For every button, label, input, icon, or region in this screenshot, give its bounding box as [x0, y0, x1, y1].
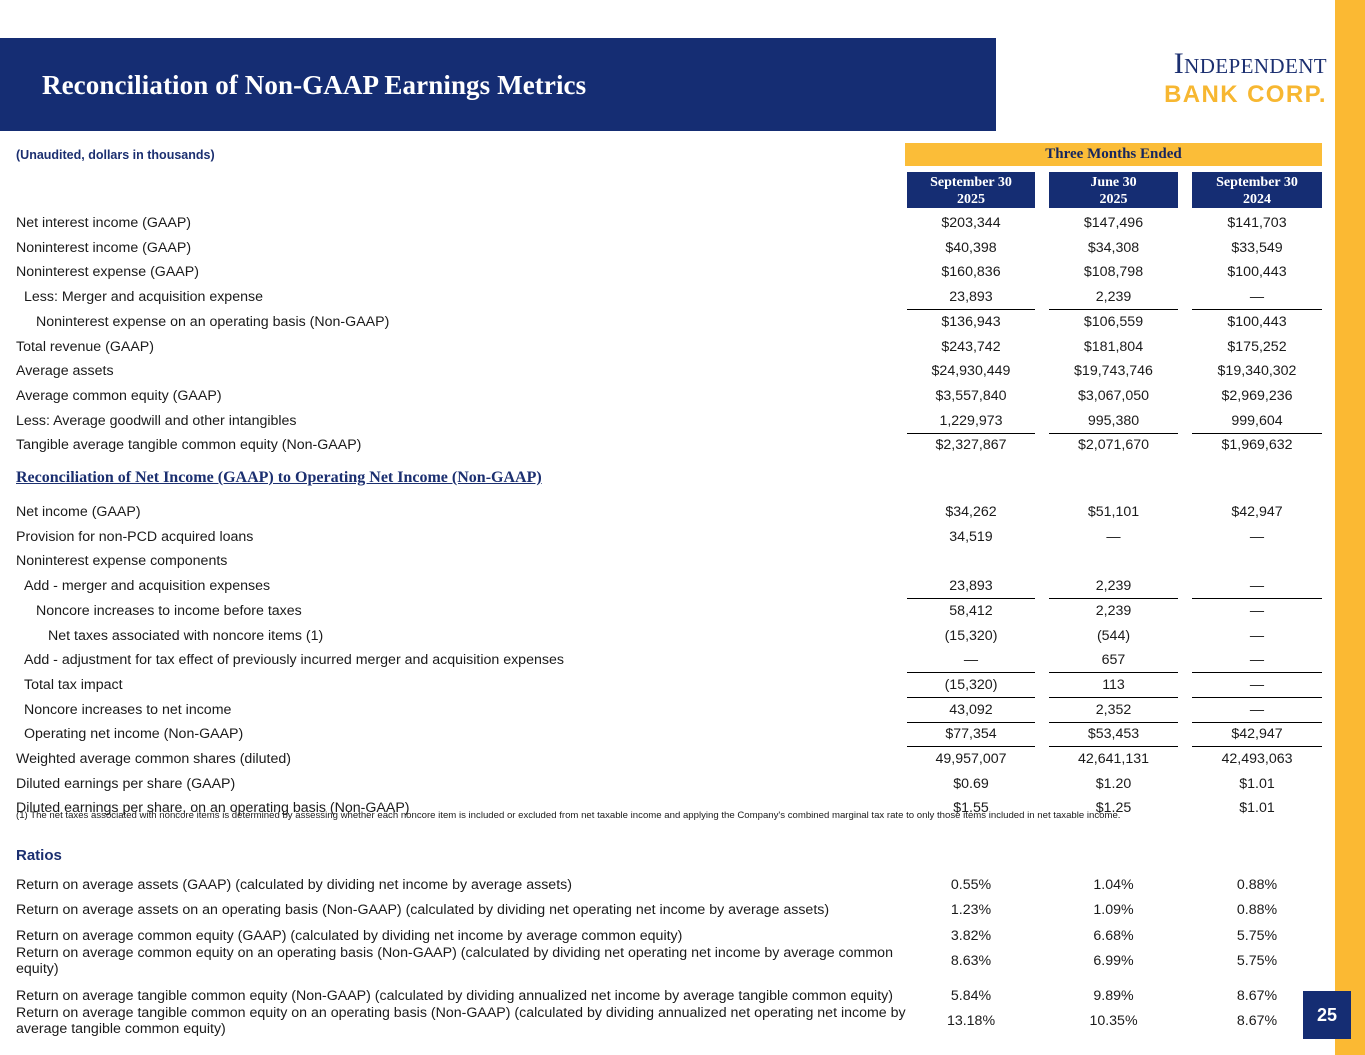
row-value: $141,703 [1192, 211, 1322, 236]
row-value: $40,398 [907, 236, 1035, 261]
row-label: Noninterest expense (GAAP) [16, 260, 199, 285]
table-row: Noninterest expense (GAAP)$160,836$108,7… [0, 260, 1365, 285]
row-value: $160,836 [907, 260, 1035, 285]
row-label: Noninterest expense on an operating basi… [36, 310, 389, 335]
row-label: Return on average assets on an operating… [16, 898, 829, 923]
row-label: Noninterest expense components [16, 549, 227, 574]
column-header-3-line1: September 30 [1192, 174, 1322, 191]
row-value: — [1192, 285, 1322, 310]
row-value: (15,320) [907, 673, 1035, 698]
row-label: Net income (GAAP) [16, 500, 141, 525]
table-row: Return on average common equity on an op… [0, 949, 1365, 974]
row-label: Add - adjustment for tax effect of previ… [24, 648, 564, 673]
row-value: $2,327,867 [907, 433, 1035, 458]
row-value: 0.88% [1192, 898, 1322, 923]
row-value: 13.18% [907, 1009, 1035, 1034]
row-value: $0.69 [907, 772, 1035, 797]
section-heading-ratios: Ratios [16, 847, 62, 864]
row-label: Average assets [16, 359, 114, 384]
table-row: Add - adjustment for tax effect of previ… [0, 648, 1365, 673]
column-header-3: September 30 2024 [1192, 172, 1322, 208]
row-value: — [1192, 624, 1322, 649]
row-value: 1.09% [1049, 898, 1178, 923]
row-value [907, 549, 1035, 574]
table-row: Operating net income (Non-GAAP)$77,354$5… [0, 722, 1365, 747]
row-value: 0.88% [1192, 873, 1322, 898]
row-value: 2,239 [1049, 599, 1178, 624]
row-value: $2,071,670 [1049, 433, 1178, 458]
row-value: 1,229,973 [907, 409, 1035, 434]
row-label: Noncore increases to income before taxes [36, 599, 302, 624]
row-value: 2,352 [1049, 698, 1178, 723]
table-row: Average common equity (GAAP)$3,557,840$3… [0, 384, 1365, 409]
table-row: Tangible average tangible common equity … [0, 433, 1365, 458]
row-value: 42,641,131 [1049, 747, 1178, 772]
row-value: $33,549 [1192, 236, 1322, 261]
table-row: Return on average tangible common equity… [0, 1009, 1365, 1034]
footnote-text: (1) The net taxes associated with noncor… [16, 809, 1316, 822]
row-value: 995,380 [1049, 409, 1178, 434]
table-row: Total revenue (GAAP)$243,742$181,804$175… [0, 335, 1365, 360]
table-row: Net income (GAAP)$34,262$51,101$42,947 [0, 500, 1365, 525]
table-row: Net taxes associated with noncore items … [0, 624, 1365, 649]
row-value: (15,320) [907, 624, 1035, 649]
table-row: Return on average assets (GAAP) (calcula… [0, 873, 1365, 898]
column-header-3-line2: 2024 [1192, 191, 1322, 208]
row-value: $3,067,050 [1049, 384, 1178, 409]
unaudited-note: (Unaudited, dollars in thousands) [16, 148, 215, 162]
section-heading-reconciliation: Reconciliation of Net Income (GAAP) to O… [16, 469, 542, 487]
row-label: Return on average tangible common equity… [16, 1005, 906, 1037]
row-value [1192, 549, 1322, 574]
page-number-badge: 25 [1303, 991, 1351, 1039]
row-value: $19,743,746 [1049, 359, 1178, 384]
row-value: 34,519 [907, 525, 1035, 550]
row-value: $1,969,632 [1192, 433, 1322, 458]
row-label: Net interest income (GAAP) [16, 211, 191, 236]
page-title: Reconciliation of Non-GAAP Earnings Metr… [42, 70, 586, 101]
row-value: $1.20 [1049, 772, 1178, 797]
row-label: Add - merger and acquisition expenses [24, 574, 270, 599]
row-value: $53,453 [1049, 722, 1178, 747]
column-header-2-line1: June 30 [1049, 174, 1178, 191]
table-row: Provision for non-PCD acquired loans34,5… [0, 525, 1365, 550]
row-value: $243,742 [907, 335, 1035, 360]
row-value: 58,412 [907, 599, 1035, 624]
row-label: Less: Merger and acquisition expense [24, 285, 263, 310]
row-value: 2,239 [1049, 574, 1178, 599]
row-value: 8.63% [907, 949, 1035, 974]
table-row: Net interest income (GAAP)$203,344$147,4… [0, 211, 1365, 236]
column-header-1-line2: 2025 [907, 191, 1035, 208]
row-value: 9.89% [1049, 984, 1178, 1009]
table-row: Noninterest expense on an operating basi… [0, 310, 1365, 335]
logo-wordmark-secondary: BANK CORP. [1045, 82, 1327, 108]
row-value: 5.75% [1192, 949, 1322, 974]
row-value: $34,308 [1049, 236, 1178, 261]
row-value: $181,804 [1049, 335, 1178, 360]
row-value: 1.23% [907, 898, 1035, 923]
row-value: $24,930,449 [907, 359, 1035, 384]
row-label: Tangible average tangible common equity … [16, 433, 361, 458]
row-label: Return on average common equity on an op… [16, 945, 906, 977]
column-header-1: September 30 2025 [907, 172, 1035, 208]
logo-wordmark-primary: Independent [1045, 48, 1327, 80]
table-row: Return on average assets on an operating… [0, 898, 1365, 923]
row-label: Noncore increases to net income [24, 698, 231, 723]
row-label: Noninterest income (GAAP) [16, 236, 191, 261]
row-value: — [1049, 525, 1178, 550]
row-label: Diluted earnings per share (GAAP) [16, 772, 235, 797]
row-value: $34,262 [907, 500, 1035, 525]
row-value: $19,340,302 [1192, 359, 1322, 384]
row-value: 23,893 [907, 574, 1035, 599]
table-row: Weighted average common shares (diluted)… [0, 747, 1365, 772]
row-value: $136,943 [907, 310, 1035, 335]
row-label: Operating net income (Non-GAAP) [24, 722, 243, 747]
row-value: 43,092 [907, 698, 1035, 723]
row-value: $175,252 [1192, 335, 1322, 360]
row-value: $51,101 [1049, 500, 1178, 525]
table-row: Add - merger and acquisition expenses23,… [0, 574, 1365, 599]
table-row: Noninterest income (GAAP)$40,398$34,308$… [0, 236, 1365, 261]
row-value: 49,957,007 [907, 747, 1035, 772]
row-label: Average common equity (GAAP) [16, 384, 222, 409]
row-value: 0.55% [907, 873, 1035, 898]
column-header-1-line1: September 30 [907, 174, 1035, 191]
row-value: 2,239 [1049, 285, 1178, 310]
table-row: Total tax impact(15,320)113— [0, 673, 1365, 698]
row-value: $2,969,236 [1192, 384, 1322, 409]
period-band-label: Three Months Ended [905, 143, 1322, 166]
row-value: $147,496 [1049, 211, 1178, 236]
row-value: 1.04% [1049, 873, 1178, 898]
row-value: $108,798 [1049, 260, 1178, 285]
row-value: 3.82% [907, 924, 1035, 949]
table-row: Noncore increases to net income43,0922,3… [0, 698, 1365, 723]
slide-canvas: Reconciliation of Non-GAAP Earnings Metr… [0, 0, 1365, 1055]
table-row: Average assets$24,930,449$19,743,746$19,… [0, 359, 1365, 384]
row-value: $3,557,840 [907, 384, 1035, 409]
row-value: $77,354 [907, 722, 1035, 747]
row-value: — [1192, 648, 1322, 673]
column-header-2: June 30 2025 [1049, 172, 1178, 208]
row-value: — [1192, 574, 1322, 599]
table-row: Diluted earnings per share (GAAP)$0.69$1… [0, 772, 1365, 797]
table-row: Less: Average goodwill and other intangi… [0, 409, 1365, 434]
row-value: 6.99% [1049, 949, 1178, 974]
company-logo: Independent BANK CORP. [1045, 48, 1327, 108]
row-value: (544) [1049, 624, 1178, 649]
row-label: Net taxes associated with noncore items … [48, 624, 323, 649]
row-value: 6.68% [1049, 924, 1178, 949]
table-row: Less: Merger and acquisition expense23,8… [0, 285, 1365, 310]
row-value: — [1192, 599, 1322, 624]
row-value: $106,559 [1049, 310, 1178, 335]
row-value: 5.75% [1192, 924, 1322, 949]
table-row: Noncore increases to income before taxes… [0, 599, 1365, 624]
row-value: 23,893 [907, 285, 1035, 310]
column-header-2-line2: 2025 [1049, 191, 1178, 208]
row-label: Provision for non-PCD acquired loans [16, 525, 253, 550]
row-value: — [1192, 673, 1322, 698]
table-row: Noninterest expense components [0, 549, 1365, 574]
row-value: — [1192, 698, 1322, 723]
row-value: $100,443 [1192, 310, 1322, 335]
row-value: 10.35% [1049, 1009, 1178, 1034]
row-value: 42,493,063 [1192, 747, 1322, 772]
row-label: Return on average assets (GAAP) (calcula… [16, 873, 572, 898]
row-value: $1.01 [1192, 772, 1322, 797]
row-value: — [907, 648, 1035, 673]
row-label: Less: Average goodwill and other intangi… [16, 409, 297, 434]
row-value: 113 [1049, 673, 1178, 698]
row-value: — [1192, 525, 1322, 550]
row-value: 657 [1049, 648, 1178, 673]
row-value: $100,443 [1192, 260, 1322, 285]
row-value: $203,344 [907, 211, 1035, 236]
row-value [1049, 549, 1178, 574]
row-label: Weighted average common shares (diluted) [16, 747, 291, 772]
row-value: 5.84% [907, 984, 1035, 1009]
row-value: $42,947 [1192, 722, 1322, 747]
row-label: Total revenue (GAAP) [16, 335, 154, 360]
row-value: 999,604 [1192, 409, 1322, 434]
row-label: Total tax impact [24, 673, 123, 698]
row-value: $42,947 [1192, 500, 1322, 525]
